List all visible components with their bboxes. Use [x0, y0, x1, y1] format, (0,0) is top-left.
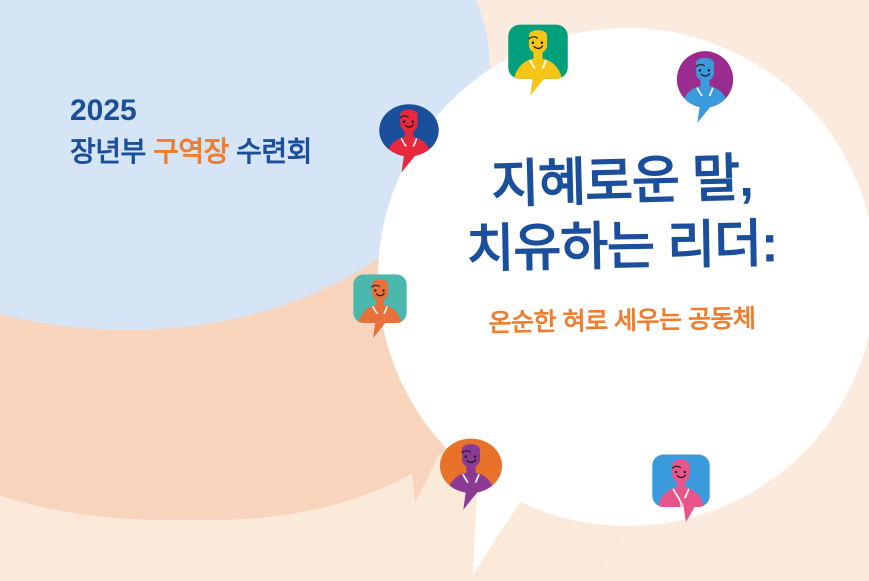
- avatar-blue-pink: [648, 452, 714, 533]
- person-speech-bubble-icon: [673, 48, 737, 135]
- person-speech-bubble-icon: [378, 100, 440, 184]
- event-subtitle: 장년부 구역장 수련회: [70, 138, 312, 166]
- event-subtitle-part-1: 장년부: [70, 136, 153, 167]
- headline-block: 2025 장년부 구역장 수련회: [70, 96, 312, 166]
- avatar-orange-purple: [437, 436, 505, 520]
- avatar-purple-blue: [673, 48, 737, 135]
- event-subtitle-part-3: 수련회: [229, 136, 312, 167]
- poster-canvas: 2025 장년부 구역장 수련회 지혜로운 말, 치유하는 리더: 온순한 혀로…: [0, 0, 869, 581]
- main-title-line-2: 치유하는 리더:: [451, 214, 792, 281]
- main-title-line-1: 지혜로운 말,: [451, 148, 792, 218]
- event-year: 2025: [70, 96, 312, 126]
- blue-bubble-tail: [94, 218, 172, 288]
- event-subtitle-accent: 구역장: [153, 136, 229, 167]
- person-speech-bubble-icon: [347, 272, 413, 347]
- avatar-teal-orange: [347, 272, 413, 347]
- main-title-block: 지혜로운 말, 치유하는 리더: 온순한 혀로 세우는 공동체: [452, 152, 792, 337]
- person-speech-bubble-icon: [437, 436, 505, 520]
- person-speech-bubble-icon: [504, 22, 572, 106]
- avatar-green-yellow: [504, 22, 572, 106]
- avatar-navy-red: [378, 100, 440, 184]
- main-title-tagline: 온순한 혀로 세우는 공동체: [452, 298, 793, 340]
- person-speech-bubble-icon: [648, 452, 714, 533]
